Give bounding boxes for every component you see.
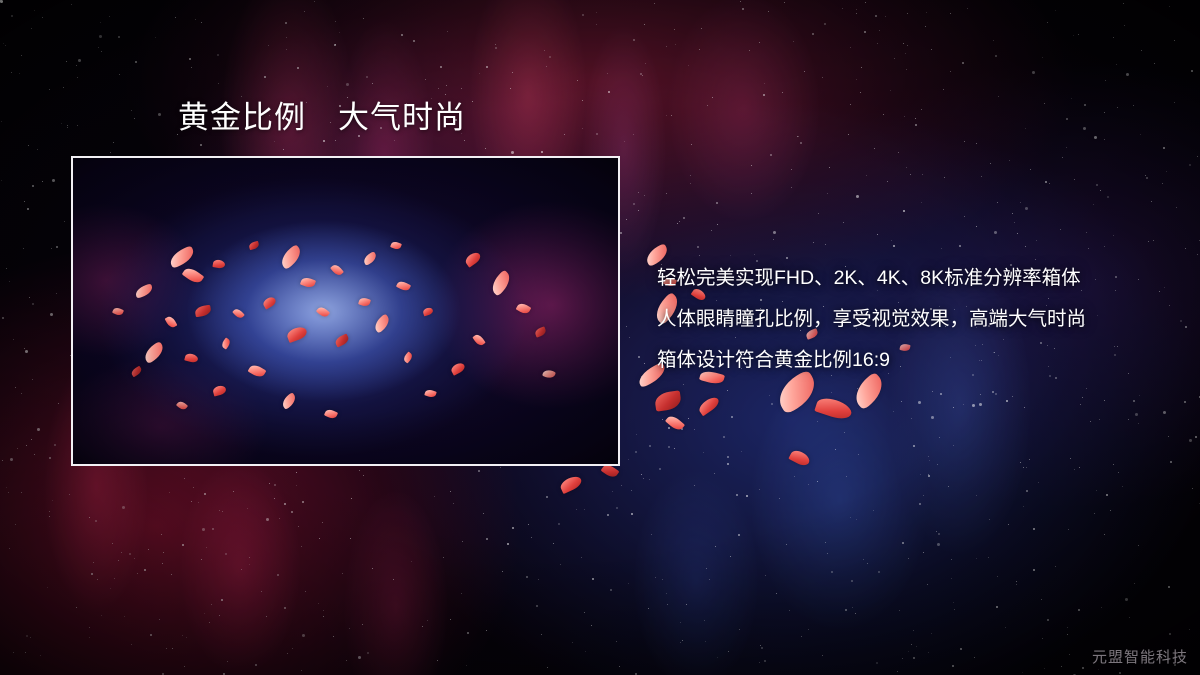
showcase-image-vignette — [73, 158, 618, 464]
feature-line-1: 轻松完美实现FHD、2K、4K、8K标准分辨率箱体 — [657, 258, 1177, 299]
flower-petal — [788, 448, 811, 468]
flower-petal — [558, 474, 583, 494]
company-watermark: 元盟智能科技 — [1092, 646, 1188, 667]
presentation-slide: 黄金比例 大气时尚 轻松完美实现FHD、2K、4K、8K标准分辨率箱体 人体眼睛… — [0, 0, 1200, 675]
flower-petal — [814, 395, 853, 422]
flower-petal — [665, 413, 685, 432]
feature-line-2: 人体眼睛瞳孔比例，享受视觉效果，高端大气时尚 — [657, 299, 1177, 340]
slide-title: 黄金比例 大气时尚 — [178, 101, 466, 135]
flower-petal — [654, 390, 682, 411]
feature-description: 轻松完美实现FHD、2K、4K、8K标准分辨率箱体 人体眼睛瞳孔比例，享受视觉效… — [657, 258, 1177, 381]
showcase-image-frame — [71, 156, 620, 466]
flower-petal — [697, 395, 721, 417]
feature-line-3: 箱体设计符合黄金比例16:9 — [657, 340, 1177, 381]
